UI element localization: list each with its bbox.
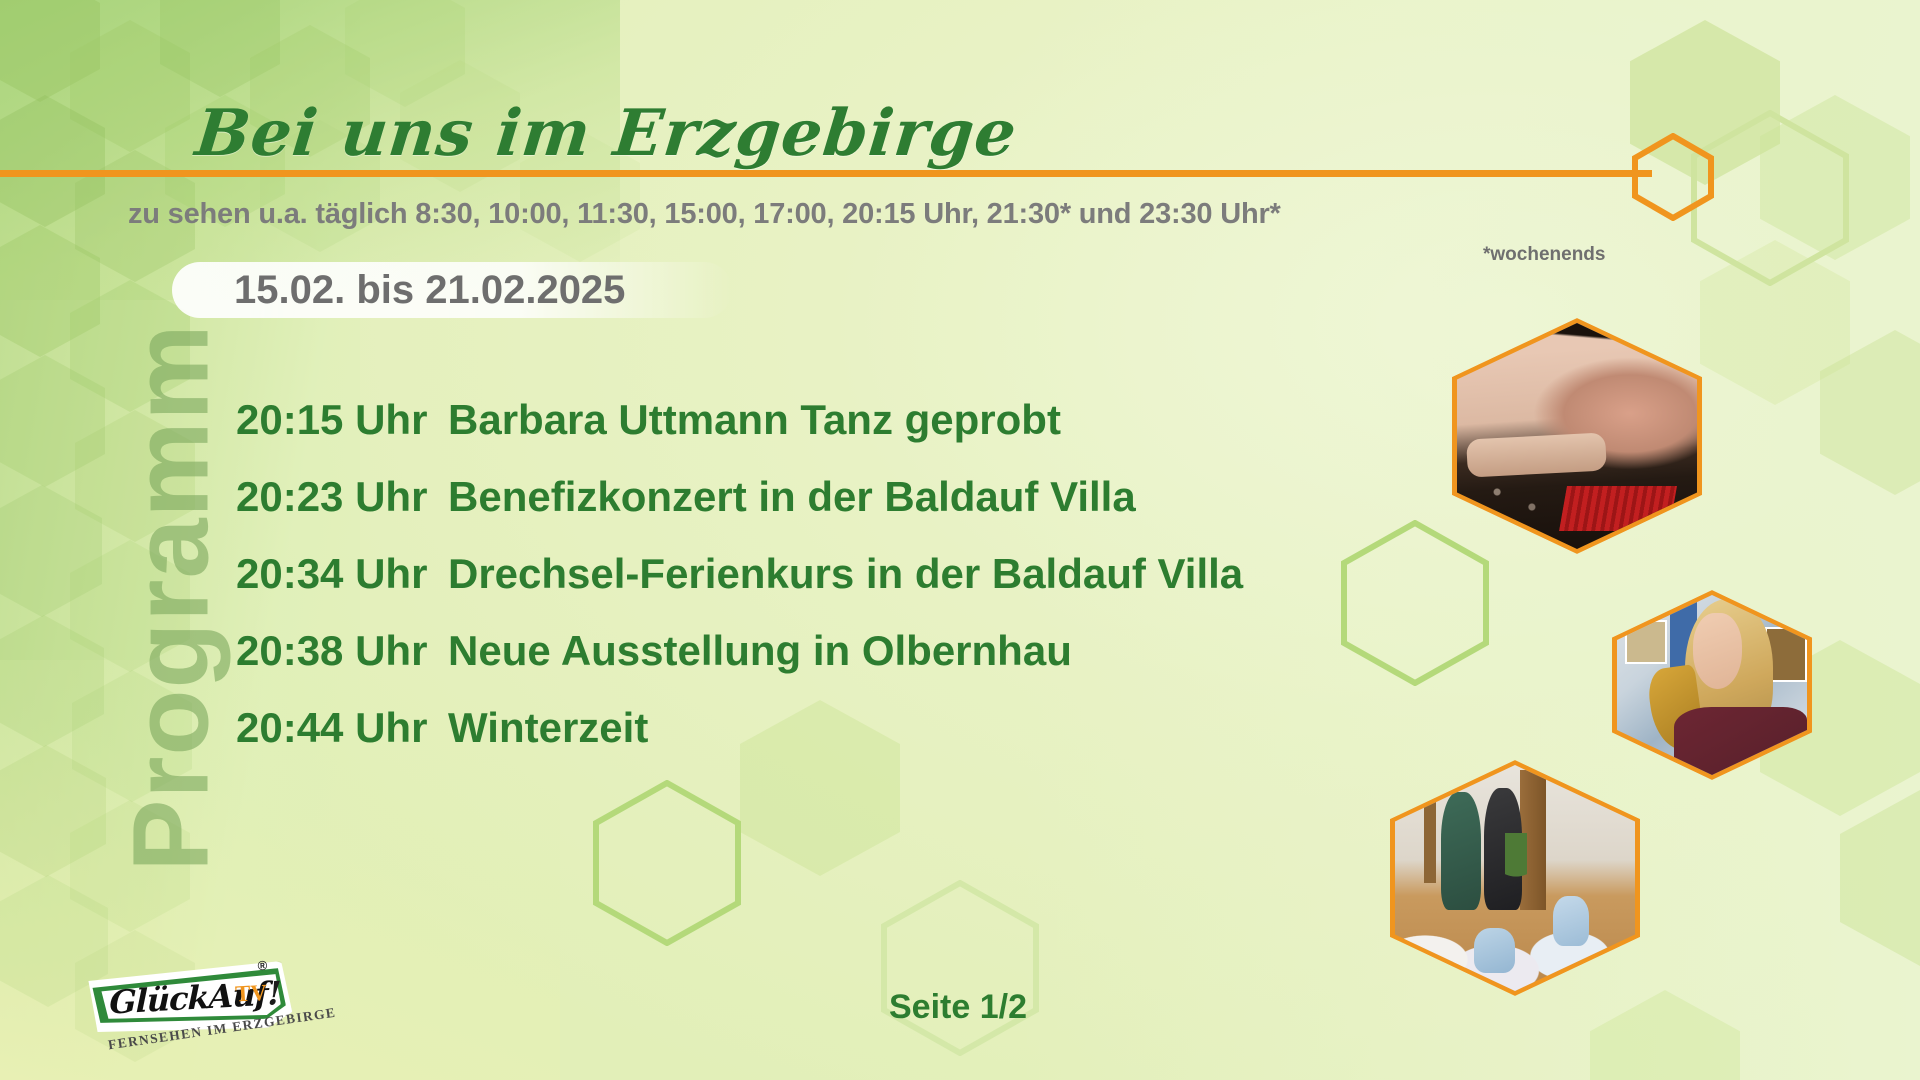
schedule-time: 20:34 Uhr <box>236 550 448 598</box>
sidebar-label-programm: Programm <box>108 218 233 978</box>
schedule-row: 20:23 Uhr Benefizkonzert in der Baldauf … <box>236 473 1243 550</box>
schedule-list: 20:15 Uhr Barbara Uttmann Tanz geprobt 2… <box>236 396 1243 781</box>
header-divider-rule <box>0 170 1652 177</box>
page-indicator: Seite 1/2 <box>889 988 1027 1027</box>
page-title: Bei uns im Erzgebirge <box>192 96 1021 171</box>
broadcast-times: zu sehen u.a. täglich 8:30, 10:00, 11:30… <box>128 198 1281 231</box>
schedule-title: Drechsel-Ferienkurs in der Baldauf Villa <box>448 550 1243 598</box>
schedule-title: Neue Ausstellung in Olbernhau <box>448 627 1072 675</box>
date-range-label: 15.02. bis 21.02.2025 <box>234 268 625 313</box>
schedule-title: Winterzeit <box>448 704 648 752</box>
honeycomb-outline-hexagon <box>1340 520 1490 686</box>
photo-detail-costume-blue <box>1553 896 1589 946</box>
schedule-row: 20:38 Uhr Neue Ausstellung in Olbernhau <box>236 627 1243 704</box>
broadcast-schedule-slide: Bei uns im Erzgebirge zu sehen u.a. tägl… <box>0 0 1920 1080</box>
logo-tv-suffix: TV <box>234 980 267 1008</box>
schedule-time: 20:38 Uhr <box>236 627 448 675</box>
schedule-time: 20:44 Uhr <box>236 704 448 752</box>
photo-detail-dancer-green <box>1441 792 1482 910</box>
channel-logo[interactable]: GlückAuf! TV ® FERNSEHEN IM ERZGEBIRGE <box>81 956 302 1064</box>
schedule-time: 20:23 Uhr <box>236 473 448 521</box>
logo-exclamation: ! <box>267 974 281 1013</box>
logo-registered-icon: ® <box>257 958 267 974</box>
header-accent-hexagon-icon <box>1632 133 1714 221</box>
broadcast-times-footnote: *wochenends <box>1483 244 1605 266</box>
honeycomb-outline-hexagon <box>880 880 1040 1056</box>
photo-detail-costume-blue <box>1474 928 1515 973</box>
photo-detail-face <box>1693 613 1742 689</box>
schedule-row: 20:15 Uhr Barbara Uttmann Tanz geprobt <box>236 396 1243 473</box>
honeycomb-outline-hexagon <box>1690 110 1850 286</box>
honeycomb-outline-hexagon <box>592 780 742 946</box>
schedule-title: Benefizkonzert in der Baldauf Villa <box>448 473 1136 521</box>
schedule-row: 20:44 Uhr Winterzeit <box>236 704 1243 781</box>
logo-word-gluck: Glück <box>109 978 209 1022</box>
schedule-title: Barbara Uttmann Tanz geprobt <box>448 396 1061 444</box>
schedule-time: 20:15 Uhr <box>236 396 448 444</box>
schedule-row: 20:34 Uhr Drechsel-Ferienkurs in der Bal… <box>236 550 1243 627</box>
photo-detail-plant <box>1505 833 1527 892</box>
